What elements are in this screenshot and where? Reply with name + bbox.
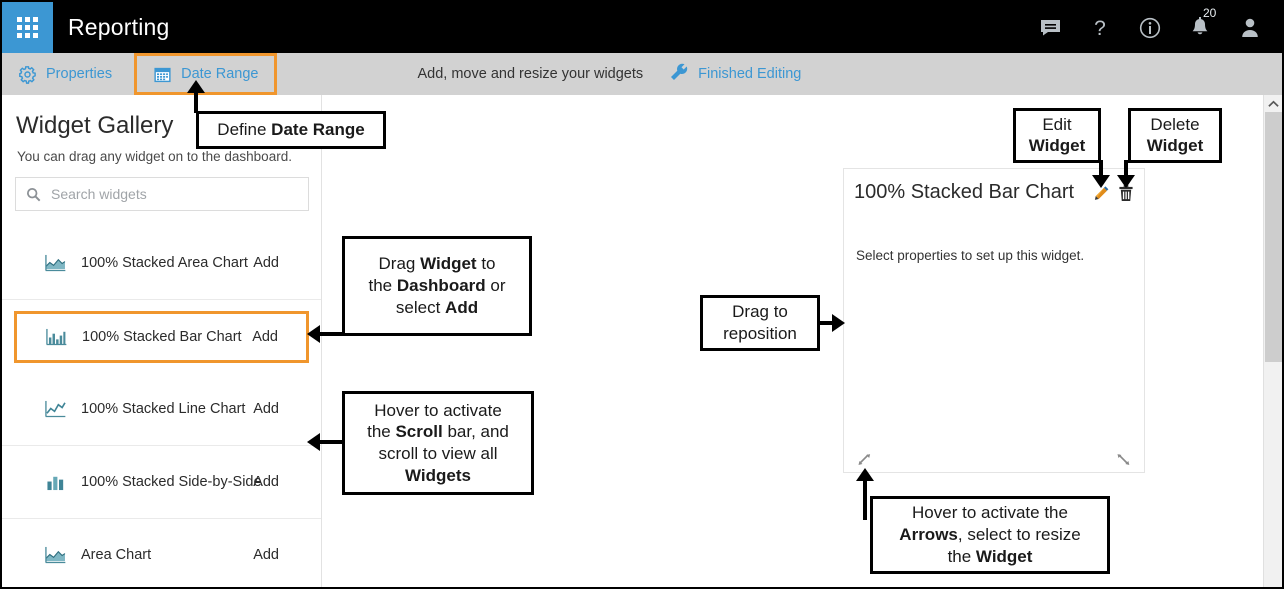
- search-icon: [26, 187, 41, 202]
- annotation-leader-date-range: [194, 93, 198, 113]
- annotation-drag-widget: Drag Widget to the Dashboard or select A…: [342, 236, 532, 336]
- widget-list-item-area-chart[interactable]: Area Chart Add: [2, 519, 321, 589]
- widget-list-item-stacked-line-chart[interactable]: 100% Stacked Line Chart Add: [2, 373, 321, 446]
- finished-editing-label: Finished Editing: [698, 66, 801, 82]
- widget-list-item-label: 100% Stacked Area Chart: [81, 255, 248, 271]
- widget-list-item-stacked-bar-chart[interactable]: 100% Stacked Bar Chart Add: [14, 311, 309, 363]
- annotation-arrow-edit-widget: [1092, 175, 1110, 188]
- annotation-text-line-1: Drag Widget to: [379, 253, 496, 275]
- search-widgets-field[interactable]: [15, 177, 309, 211]
- resize-handle-icon[interactable]: [1116, 452, 1131, 467]
- bar-chart-icon: [41, 328, 71, 346]
- annotation-text-line-2: the Scroll bar, and: [367, 421, 509, 443]
- notification-count-badge: 20: [1203, 6, 1216, 20]
- search-input[interactable]: [49, 185, 283, 203]
- annotation-text-line-2: Widget: [1147, 136, 1204, 156]
- page-title: Reporting: [68, 14, 170, 41]
- gear-icon: [18, 65, 37, 84]
- annotation-text-line-1: Hover to activate: [374, 400, 502, 422]
- widget-add-link[interactable]: Add: [253, 255, 279, 271]
- widget-list-item-label: Area Chart: [81, 547, 151, 563]
- notifications-bell-icon[interactable]: 20: [1188, 15, 1212, 41]
- area-chart-icon: [40, 254, 70, 272]
- annotation-text-line-2: the Dashboard or: [369, 275, 506, 297]
- dashboard-widget-card[interactable]: 100% Stacked Bar Chart: [843, 168, 1145, 473]
- header-icon-group: ? 20: [1038, 15, 1282, 41]
- toolbar-hint-text: Add, move and resize your widgets: [417, 66, 643, 82]
- scrollbar-thumb[interactable]: [1265, 112, 1282, 362]
- calendar-icon: [153, 65, 172, 84]
- annotation-arrow-drag-reposition: [832, 314, 845, 332]
- widget-gallery-subtitle: You can drag any widget on to the dashbo…: [17, 149, 321, 164]
- wrench-icon: [669, 62, 689, 86]
- finished-editing-button[interactable]: Finished Editing: [669, 62, 801, 86]
- info-icon[interactable]: [1138, 15, 1162, 41]
- annotation-text-line-3: select Add: [396, 297, 478, 319]
- chevron-up-icon[interactable]: [1264, 95, 1282, 112]
- properties-label: Properties: [46, 66, 112, 82]
- widget-gallery-panel: Widget Gallery You can drag any widget o…: [2, 95, 322, 587]
- widget-list-item-label: 100% Stacked Bar Chart: [82, 329, 242, 345]
- annotation-text-line-1: Drag to: [732, 301, 788, 323]
- widget-add-link[interactable]: Add: [253, 401, 279, 417]
- widget-list-item-stacked-area-chart[interactable]: 100% Stacked Area Chart Add: [2, 227, 321, 300]
- line-chart-icon: [40, 400, 70, 418]
- app-header: Reporting ?: [2, 2, 1282, 53]
- column-chart-icon: [40, 473, 70, 491]
- resize-handle-icon[interactable]: [857, 452, 872, 467]
- annotation-text: Define Date Range: [217, 119, 364, 141]
- widget-list-item-label: 100% Stacked Side-by-Side: [81, 474, 262, 490]
- svg-text:?: ?: [1094, 17, 1106, 40]
- date-range-button[interactable]: Date Range: [134, 53, 277, 95]
- user-account-icon[interactable]: [1238, 15, 1262, 41]
- area-chart-icon: [40, 546, 70, 564]
- properties-button[interactable]: Properties: [2, 53, 128, 95]
- annotation-leader-resize-v: [863, 480, 867, 520]
- help-icon[interactable]: ?: [1088, 15, 1112, 41]
- annotation-text-line-4: Widgets: [405, 465, 471, 487]
- widget-add-link[interactable]: Add: [253, 474, 279, 490]
- reporting-dashboard-screen: Reporting ?: [0, 0, 1284, 589]
- annotation-text-line-3: scroll to view all: [378, 443, 497, 465]
- annotation-delete-widget: Delete Widget: [1128, 108, 1222, 163]
- annotation-text-line-2: Arrows, select to resize: [899, 524, 1080, 546]
- annotation-text-line-2: Widget: [1029, 136, 1086, 156]
- annotation-resize-widget: Hover to activate the Arrows, select to …: [870, 496, 1110, 574]
- annotation-text-line-3: the Widget: [948, 546, 1033, 568]
- widget-list-item-stacked-side-by-side[interactable]: 100% Stacked Side-by-Side Add: [2, 446, 321, 519]
- annotation-arrow-date-range: [187, 80, 205, 93]
- widget-add-link[interactable]: Add: [252, 329, 278, 345]
- widget-list: 100% Stacked Area Chart Add: [2, 227, 321, 589]
- annotation-text-line-2: reposition: [723, 323, 797, 345]
- annotation-arrow-drag-widget: [307, 325, 320, 343]
- annotation-arrow-scroll: [307, 433, 320, 451]
- annotation-leader-drag-widget-h: [320, 332, 344, 336]
- annotation-text-line-1: Edit: [1042, 115, 1071, 135]
- annotation-define-date-range: Define Date Range: [196, 111, 386, 149]
- annotation-edit-widget: Edit Widget: [1013, 108, 1101, 163]
- grid-apps-icon-glyph: [17, 17, 38, 38]
- widget-list-item-label: 100% Stacked Line Chart: [81, 401, 245, 417]
- chat-icon[interactable]: [1038, 15, 1062, 41]
- annotation-arrow-resize: [856, 468, 874, 481]
- annotation-scroll-bar: Hover to activate the Scroll bar, and sc…: [342, 391, 534, 495]
- annotation-text-line-1: Hover to activate the: [912, 502, 1068, 524]
- widget-card-description: Select properties to set up this widget.: [856, 248, 1084, 263]
- annotation-arrow-delete-widget: [1117, 175, 1135, 188]
- vertical-scrollbar[interactable]: [1263, 95, 1282, 587]
- annotation-text-line-1: Delete: [1150, 115, 1199, 135]
- widget-add-link[interactable]: Add: [253, 547, 279, 563]
- annotation-drag-reposition: Drag to reposition: [700, 295, 820, 351]
- widget-card-title: 100% Stacked Bar Chart: [854, 181, 1074, 204]
- grid-apps-icon[interactable]: [2, 2, 53, 53]
